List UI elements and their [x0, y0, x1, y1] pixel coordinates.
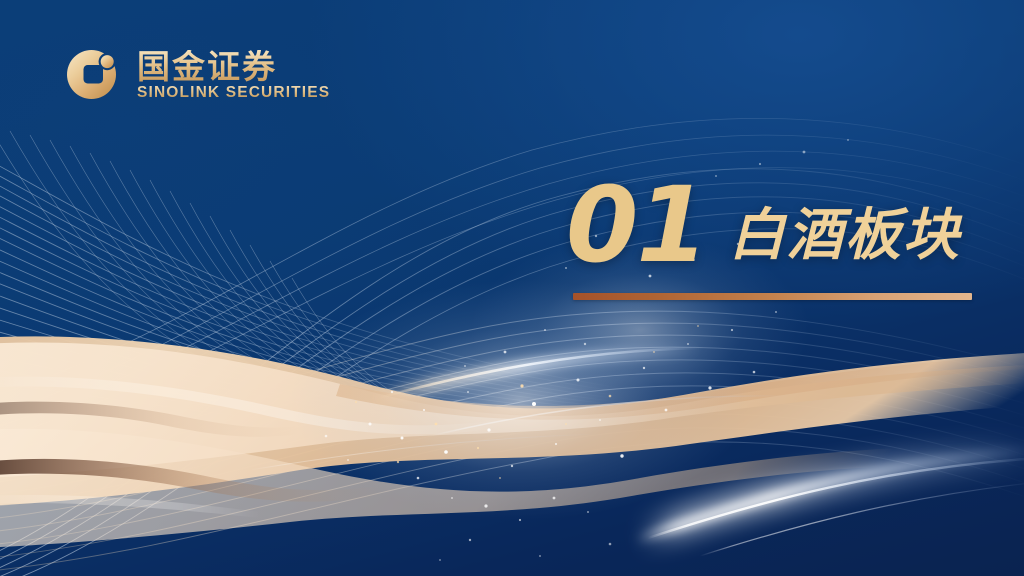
section-heading: 白酒板块: [729, 208, 961, 276]
section-number: 01: [566, 176, 707, 276]
section-title-row: 01 白酒板块: [566, 168, 972, 276]
sinolink-circle-mark-icon: [63, 44, 123, 104]
brand-logo: 国金证券 SINOLINK SECURITIES: [63, 44, 330, 104]
section-title-block: 01 白酒板块: [566, 168, 972, 300]
brand-name-cn: 国金证券: [137, 50, 330, 83]
brand-logo-text: 国金证券 SINOLINK SECURITIES: [137, 48, 330, 101]
slide-canvas: 国金证券 SINOLINK SECURITIES 01 白酒板块: [0, 0, 1024, 576]
brand-name-en: SINOLINK SECURITIES: [137, 85, 330, 101]
title-underline-rule: [573, 293, 972, 300]
